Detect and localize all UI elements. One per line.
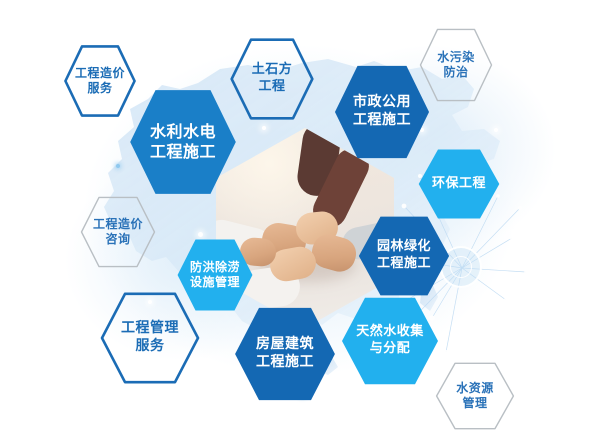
hexagon-label: 市政公用 工程施工	[353, 94, 411, 130]
hexagon-label: 工程造价 咨询	[93, 217, 143, 248]
glow-dot	[116, 164, 120, 168]
hexagon-building-construction-engineering[interactable]: 房屋建筑 工程施工	[233, 306, 337, 402]
glow-dot	[494, 128, 498, 132]
hexagon-engineering-cost-service[interactable]: 工程造价 服务	[64, 45, 136, 117]
hexagon-label: 防洪除涝 设施管理	[190, 260, 240, 291]
hexagon-label: 水污染 防治	[437, 50, 475, 81]
hexagon-label: 土石方 工程	[252, 62, 293, 95]
hexagon-water-conservancy-hydropower-construction[interactable]: 水利水电 工程施工	[128, 88, 238, 196]
hexagon-label: 环保工程	[432, 176, 486, 193]
hexagon-label: 工程造价 服务	[75, 66, 125, 97]
hexagon-water-resource-management[interactable]: 水资源 管理	[435, 362, 515, 430]
infographic-stage: 工程造价 服务土石方 工程水污染 防治市政公用 工程施工水利水电 工程施工环保工…	[0, 0, 600, 439]
hexagon-engineering-cost-consulting[interactable]: 工程造价 咨询	[80, 196, 156, 268]
glow-dot	[198, 232, 203, 237]
node-ring-inner	[450, 256, 472, 278]
hexagon-municipal-public-works-construction[interactable]: 市政公用 工程施工	[333, 64, 431, 160]
hexagon-landscaping-engineering-construction[interactable]: 园林绿化 工程施工	[357, 215, 451, 297]
glow-dot	[262, 126, 266, 130]
hexagon-label: 工程管理 服务	[121, 320, 179, 356]
hexagon-earthwork-engineering[interactable]: 土石方 工程	[230, 38, 314, 120]
hexagon-engineering-management-service[interactable]: 工程管理 服务	[100, 292, 200, 384]
hexagon-natural-water-collection-distribution[interactable]: 天然水收集 与分配	[340, 296, 440, 386]
hexagon-label: 水利水电 工程施工	[150, 122, 216, 163]
hexagon-label: 天然水收集 与分配	[356, 324, 424, 357]
hexagon-label: 园林绿化 工程施工	[377, 239, 431, 272]
hexagon-environmental-protection-engineering[interactable]: 环保工程	[417, 148, 501, 220]
hexagon-label: 房屋建筑 工程施工	[256, 336, 314, 372]
glow-dot	[372, 388, 376, 392]
hexagon-label: 水资源 管理	[456, 381, 494, 412]
